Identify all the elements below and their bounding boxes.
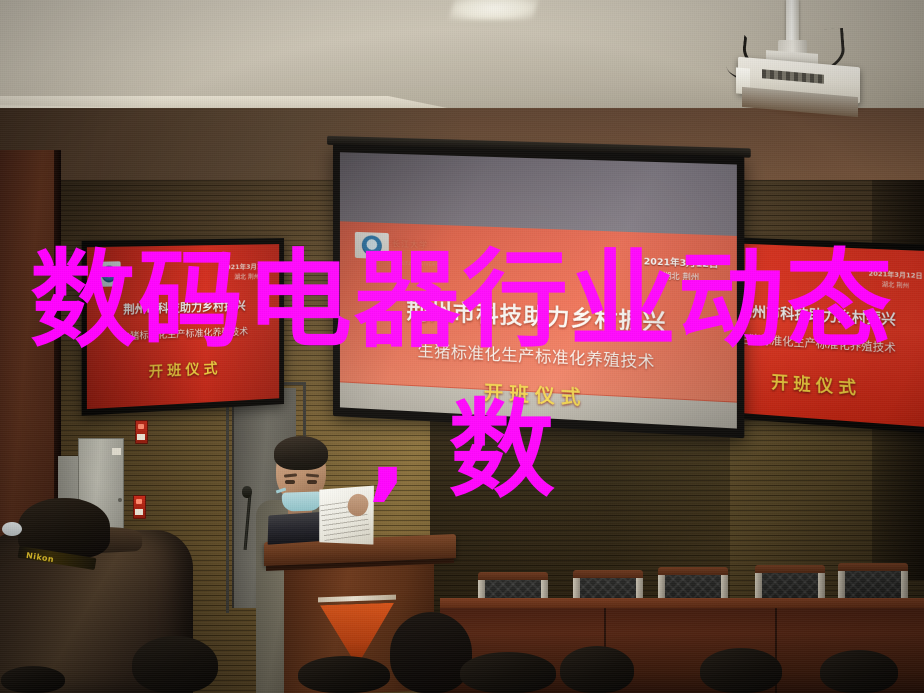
left-led-heading2: 生猪标准化生产标准化养殖技术 [87, 323, 279, 344]
alarm-led-icon [138, 424, 144, 429]
left-led-date: 2021年3月12日 湖北 荆州 [222, 263, 272, 283]
audience-head [132, 636, 218, 693]
face-mask-icon [2, 522, 22, 536]
left-led-heading3: 开班仪式 [87, 355, 279, 385]
photograph-canvas: 2021年3月12日 湖北 荆州 荆州市科技助力乡村振兴 生猪标准化生产标准化养… [0, 0, 924, 693]
university-logo [355, 232, 389, 259]
university-seal-icon [362, 235, 382, 256]
audience-head [700, 648, 782, 693]
fire-alarm-icon [133, 495, 146, 519]
audience-head [460, 652, 556, 693]
ceiling-light-fixture [449, 0, 540, 20]
projection-screen: 长江大学 YANGTZE UNIVERSITY 2021年3月12日 湖北 荆州… [333, 144, 744, 438]
university-logo [97, 261, 121, 287]
cabinet-label [112, 448, 121, 455]
speaker-eye [285, 480, 295, 484]
projection-screen-surface: 长江大学 YANGTZE UNIVERSITY 2021年3月12日 湖北 荆州… [340, 152, 737, 428]
slide-date-block: 2021年3月12日 湖北 荆州 [644, 256, 719, 284]
alarm-plate [137, 434, 145, 440]
right-led-date: 2021年3月12日 湖北 荆州 [868, 270, 922, 292]
microphone-icon [242, 486, 252, 498]
fire-alarm-icon [135, 420, 148, 444]
speaker-hair [274, 436, 328, 470]
university-seal-icon [101, 265, 116, 282]
left-led-heading1: 荆州市科技助力乡村振兴 [87, 297, 279, 320]
university-name: 长江大学 [392, 238, 428, 250]
alarm-plate [135, 509, 143, 515]
alarm-led-icon [136, 499, 142, 504]
cabinet-lock-knob [118, 498, 122, 502]
audience-head [560, 646, 634, 693]
left-led-screen-content: 2021年3月12日 湖北 荆州 荆州市科技助力乡村振兴 生猪标准化生产标准化养… [87, 244, 279, 409]
audience-head [298, 656, 390, 693]
left-led-display: 2021年3月12日 湖北 荆州 荆州市科技助力乡村振兴 生猪标准化生产标准化养… [82, 238, 284, 416]
audience-head [820, 650, 898, 693]
audience-head [1, 666, 65, 693]
audience-head [390, 612, 472, 693]
face-mask-icon [282, 491, 323, 511]
speaker-eye [307, 480, 317, 484]
